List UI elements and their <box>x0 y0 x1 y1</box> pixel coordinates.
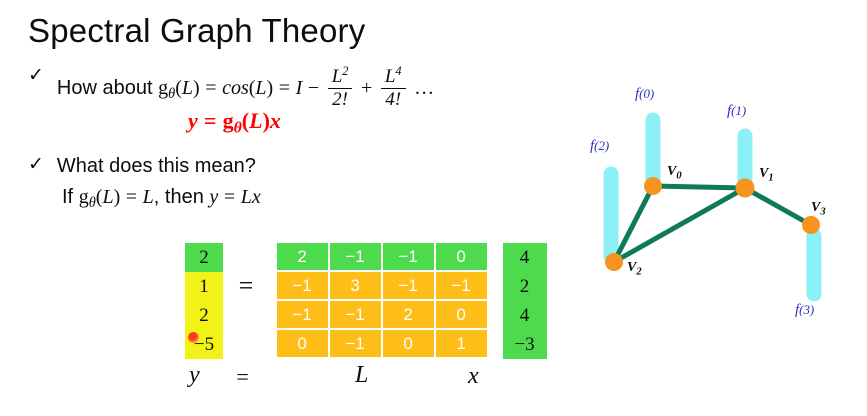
fraction-numerator-1: L2 <box>328 65 353 89</box>
series-ellipsis: … <box>414 77 435 99</box>
red-laplacian: L <box>249 108 262 133</box>
bottom-equals-label: = <box>235 364 250 390</box>
if-word: If <box>62 186 73 208</box>
x-vector-label: x <box>468 363 479 390</box>
numerator-exponent-1: 2 <box>342 64 348 78</box>
close-paren-2: ) <box>267 77 274 99</box>
bullet-what-does-this-mean: ✓ What does this mean? <box>28 155 256 178</box>
y-vector-cell: 2 <box>185 301 223 330</box>
matrix-row: 2 −1 −1 0 <box>277 243 487 270</box>
node-v2[interactable] <box>605 253 623 271</box>
if-comma: , <box>154 186 160 208</box>
red-close-paren: ) <box>263 108 270 133</box>
matrix-row: −1 3 −1 −1 <box>277 272 487 299</box>
g-symbol: g <box>158 77 168 99</box>
red-x-symbol: x <box>270 108 281 133</box>
equals-2: = <box>279 77 290 99</box>
minus-operator: − <box>308 77 319 99</box>
matrix-row: −1 −1 2 0 <box>277 301 487 328</box>
matrix-cell: −1 <box>277 301 328 328</box>
if-x-symbol: x <box>252 186 261 208</box>
matrix-cell: −1 <box>277 272 328 299</box>
x-vector-cell: 2 <box>503 272 547 301</box>
bullet-how-about-text: How about gθ(L) = cos(L) = I − L2 2! + L… <box>57 66 435 111</box>
slide-canvas: Spectral Graph Theory ✓ How about gθ(L) … <box>0 0 867 416</box>
x-vector-cell: −3 <box>503 330 547 359</box>
graph-nodes-group <box>605 177 820 271</box>
matrix-row: 0 −1 0 1 <box>277 330 487 357</box>
node-v3[interactable] <box>802 216 820 234</box>
signal-label-f0: f(0) <box>635 86 654 103</box>
plus-operator: + <box>361 77 372 99</box>
matrix-label: L <box>355 362 368 389</box>
matrix-cell: 0 <box>383 330 434 357</box>
node-label-v3: V3 <box>811 200 826 217</box>
laser-pointer-dot <box>188 332 199 343</box>
matrix-cell: 0 <box>436 243 487 270</box>
if-theta-subscript: θ <box>89 195 96 211</box>
y-vector-cell: 1 <box>185 272 223 301</box>
if-L-operator: L <box>241 186 252 208</box>
red-y-symbol: y <box>188 108 198 133</box>
page-title: Spectral Graph Theory <box>28 12 365 50</box>
matrix-cell: 3 <box>330 272 381 299</box>
laplacian-matrix: 2 −1 −1 0 −1 3 −1 −1 −1 −1 2 0 0 −1 0 <box>277 243 487 357</box>
fraction-denominator-2: 4! <box>381 89 406 110</box>
if-g-symbol: g <box>79 186 89 208</box>
edge-v1-v3 <box>745 188 811 225</box>
if-close-paren: ) <box>114 186 121 208</box>
matrix-cell: −1 <box>383 272 434 299</box>
identity-matrix: I <box>296 77 303 99</box>
f0-arg: (0) <box>639 87 654 101</box>
fraction-denominator-1: 2! <box>328 89 353 110</box>
v3-subscript: 3 <box>820 206 825 217</box>
equals-1: = <box>205 77 216 99</box>
node-label-v1: V1 <box>759 166 774 183</box>
y-vector-label: y <box>189 362 200 389</box>
if-then-line: If gθ(L) = L, then y = Lx <box>62 186 261 212</box>
matrix-cell: −1 <box>383 243 434 270</box>
x-vector-cell: 4 <box>503 243 547 272</box>
matrix-cell: −1 <box>330 243 381 270</box>
if-equals-1: = <box>126 186 137 208</box>
fraction-l4-4fact: L4 4! <box>381 65 406 110</box>
numerator-exponent-2: 4 <box>395 64 401 78</box>
if-equals-2: = <box>224 186 235 208</box>
if-then-text: If gθ(L) = L, then y = Lx <box>62 186 261 212</box>
node-label-v0: V0 <box>667 164 682 181</box>
v2-letter: V <box>627 260 636 275</box>
open-paren-1: ( <box>175 77 182 99</box>
v1-letter: V <box>759 166 768 181</box>
if-laplacian-value: L <box>143 186 154 208</box>
matrix-equation: 2 1 2 −5 = 2 −1 −1 0 −1 3 −1 −1 −1 −1 2 <box>185 243 547 359</box>
checkmark-icon: ✓ <box>28 66 44 85</box>
v1-subscript: 1 <box>768 172 773 183</box>
red-g-theta: gθ <box>223 108 242 133</box>
signal-label-f1: f(1) <box>727 103 746 120</box>
f1-arg: (1) <box>731 104 746 118</box>
y-vector-cell: 2 <box>185 243 223 272</box>
red-g-symbol: g <box>223 108 234 133</box>
matrix-cell: −1 <box>330 330 381 357</box>
bullet-how-about: ✓ How about gθ(L) = cos(L) = I − L2 2! +… <box>28 66 435 111</box>
matrix-cell: −1 <box>436 272 487 299</box>
fraction-l2-2fact: L2 2! <box>328 65 353 110</box>
node-v1[interactable] <box>736 179 755 198</box>
x-vector: 4 2 4 −3 <box>503 243 547 359</box>
matrix-cell: 2 <box>277 243 328 270</box>
if-y-symbol: y <box>209 186 218 208</box>
close-paren-1: ) <box>193 77 200 99</box>
matrix-cell: 1 <box>436 330 487 357</box>
then-word: then <box>165 186 204 208</box>
x-vector-cell: 4 <box>503 301 547 330</box>
signal-label-f3: f(3) <box>795 302 814 319</box>
edge-v0-v1 <box>653 186 745 188</box>
laplacian-arg-1: L <box>182 77 193 99</box>
matrix-cell: −1 <box>330 301 381 328</box>
g-theta-function: gθ <box>158 77 175 99</box>
v3-letter: V <box>811 200 820 215</box>
node-v0[interactable] <box>644 177 662 195</box>
how-about-prefix: How about <box>57 77 153 99</box>
bullet-what-text: What does this mean? <box>57 155 256 178</box>
node-label-v2: V2 <box>627 260 642 277</box>
checkmark-icon-2: ✓ <box>28 155 44 174</box>
red-equals: = <box>204 108 217 133</box>
red-equation: y = gθ(L)x <box>188 108 281 137</box>
fraction-numerator-2: L4 <box>381 65 406 89</box>
matrix-cell: 0 <box>436 301 487 328</box>
laplacian-arg-2: L <box>255 77 266 99</box>
f2-arg: (2) <box>594 139 609 153</box>
red-theta-subscript: θ <box>234 119 242 136</box>
graph-edges-group <box>614 186 811 262</box>
cos-function: cos <box>222 77 249 99</box>
v0-letter: V <box>667 164 676 179</box>
numerator-base-1: L <box>332 66 343 87</box>
graph-signal-diagram: f(2) f(0) f(1) f(3) V0 V1 V2 V3 <box>575 78 867 340</box>
v0-subscript: 0 <box>676 170 681 181</box>
v2-subscript: 2 <box>636 266 641 277</box>
if-g-theta: gθ <box>79 186 96 208</box>
numerator-base-2: L <box>385 66 396 87</box>
red-open-paren: ( <box>242 108 249 133</box>
matrix-cell: 0 <box>277 330 328 357</box>
signal-label-f2: f(2) <box>590 138 609 155</box>
equation-equals-sign: = <box>237 243 255 301</box>
if-laplacian-arg: L <box>102 186 113 208</box>
f3-arg: (3) <box>799 303 814 317</box>
matrix-cell: 2 <box>383 301 434 328</box>
